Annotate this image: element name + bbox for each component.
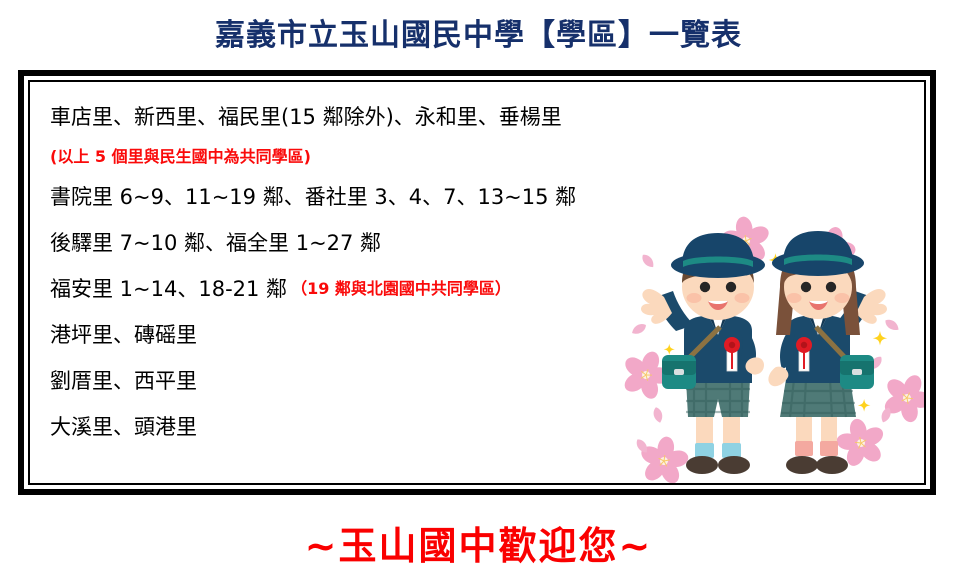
district-line-8-text: 大溪里、頭港里 xyxy=(50,417,197,438)
district-line-7-text: 劉厝里、西平里 xyxy=(50,371,197,392)
district-line-6-text: 港坪里、磚磘里 xyxy=(50,325,197,346)
district-line-1-text: 車店里、新西里、福民里(15 鄰除外)、永和里、垂楊里 xyxy=(50,107,562,128)
district-line-5-note: （19 鄰與北園國中共同學區） xyxy=(291,281,511,297)
district-line-2-note: (以上 5 個里與民生國中為共同學區) xyxy=(50,140,710,174)
district-line-7: 劉厝里、西平里 xyxy=(50,358,710,404)
district-line-list: 車店里、新西里、福民里(15 鄰除外)、永和里、垂楊里 (以上 5 個里與民生國… xyxy=(50,94,710,450)
district-line-3: 書院里 6~9、11~19 鄰、番社里 3、4、7、13~15 鄰 xyxy=(50,174,710,220)
district-line-5-text: 福安里 1~14、18-21 鄰 xyxy=(50,279,287,300)
district-panel-outer-border: 車店里、新西里、福民里(15 鄰除外)、永和里、垂楊里 (以上 5 個里與民生國… xyxy=(18,70,936,495)
welcome-footer-text: ~玉山國中歡迎您~ xyxy=(0,515,957,570)
girl-student-figure xyxy=(768,231,887,474)
district-line-2-text: (以上 5 個里與民生國中為共同學區) xyxy=(50,149,311,165)
district-line-5: 福安里 1~14、18-21 鄰 （19 鄰與北園國中共同學區） xyxy=(50,266,710,312)
page-title: 嘉義市立玉山國民中學【學區】一覽表 xyxy=(0,18,957,54)
district-line-4: 後驛里 7~10 鄰、福全里 1~27 鄰 xyxy=(50,220,710,266)
district-line-6: 港坪里、磚磘里 xyxy=(50,312,710,358)
district-line-4-text: 後驛里 7~10 鄰、福全里 1~27 鄰 xyxy=(50,233,381,254)
district-panel-inner-border: 車店里、新西里、福民里(15 鄰除外)、永和里、垂楊里 (以上 5 個里與民生國… xyxy=(28,80,926,485)
district-line-1: 車店里、新西里、福民里(15 鄰除外)、永和里、垂楊里 xyxy=(50,94,710,140)
district-line-8: 大溪里、頭港里 xyxy=(50,404,710,450)
district-line-3-text: 書院里 6~9、11~19 鄰、番社里 3、4、7、13~15 鄰 xyxy=(50,187,576,208)
